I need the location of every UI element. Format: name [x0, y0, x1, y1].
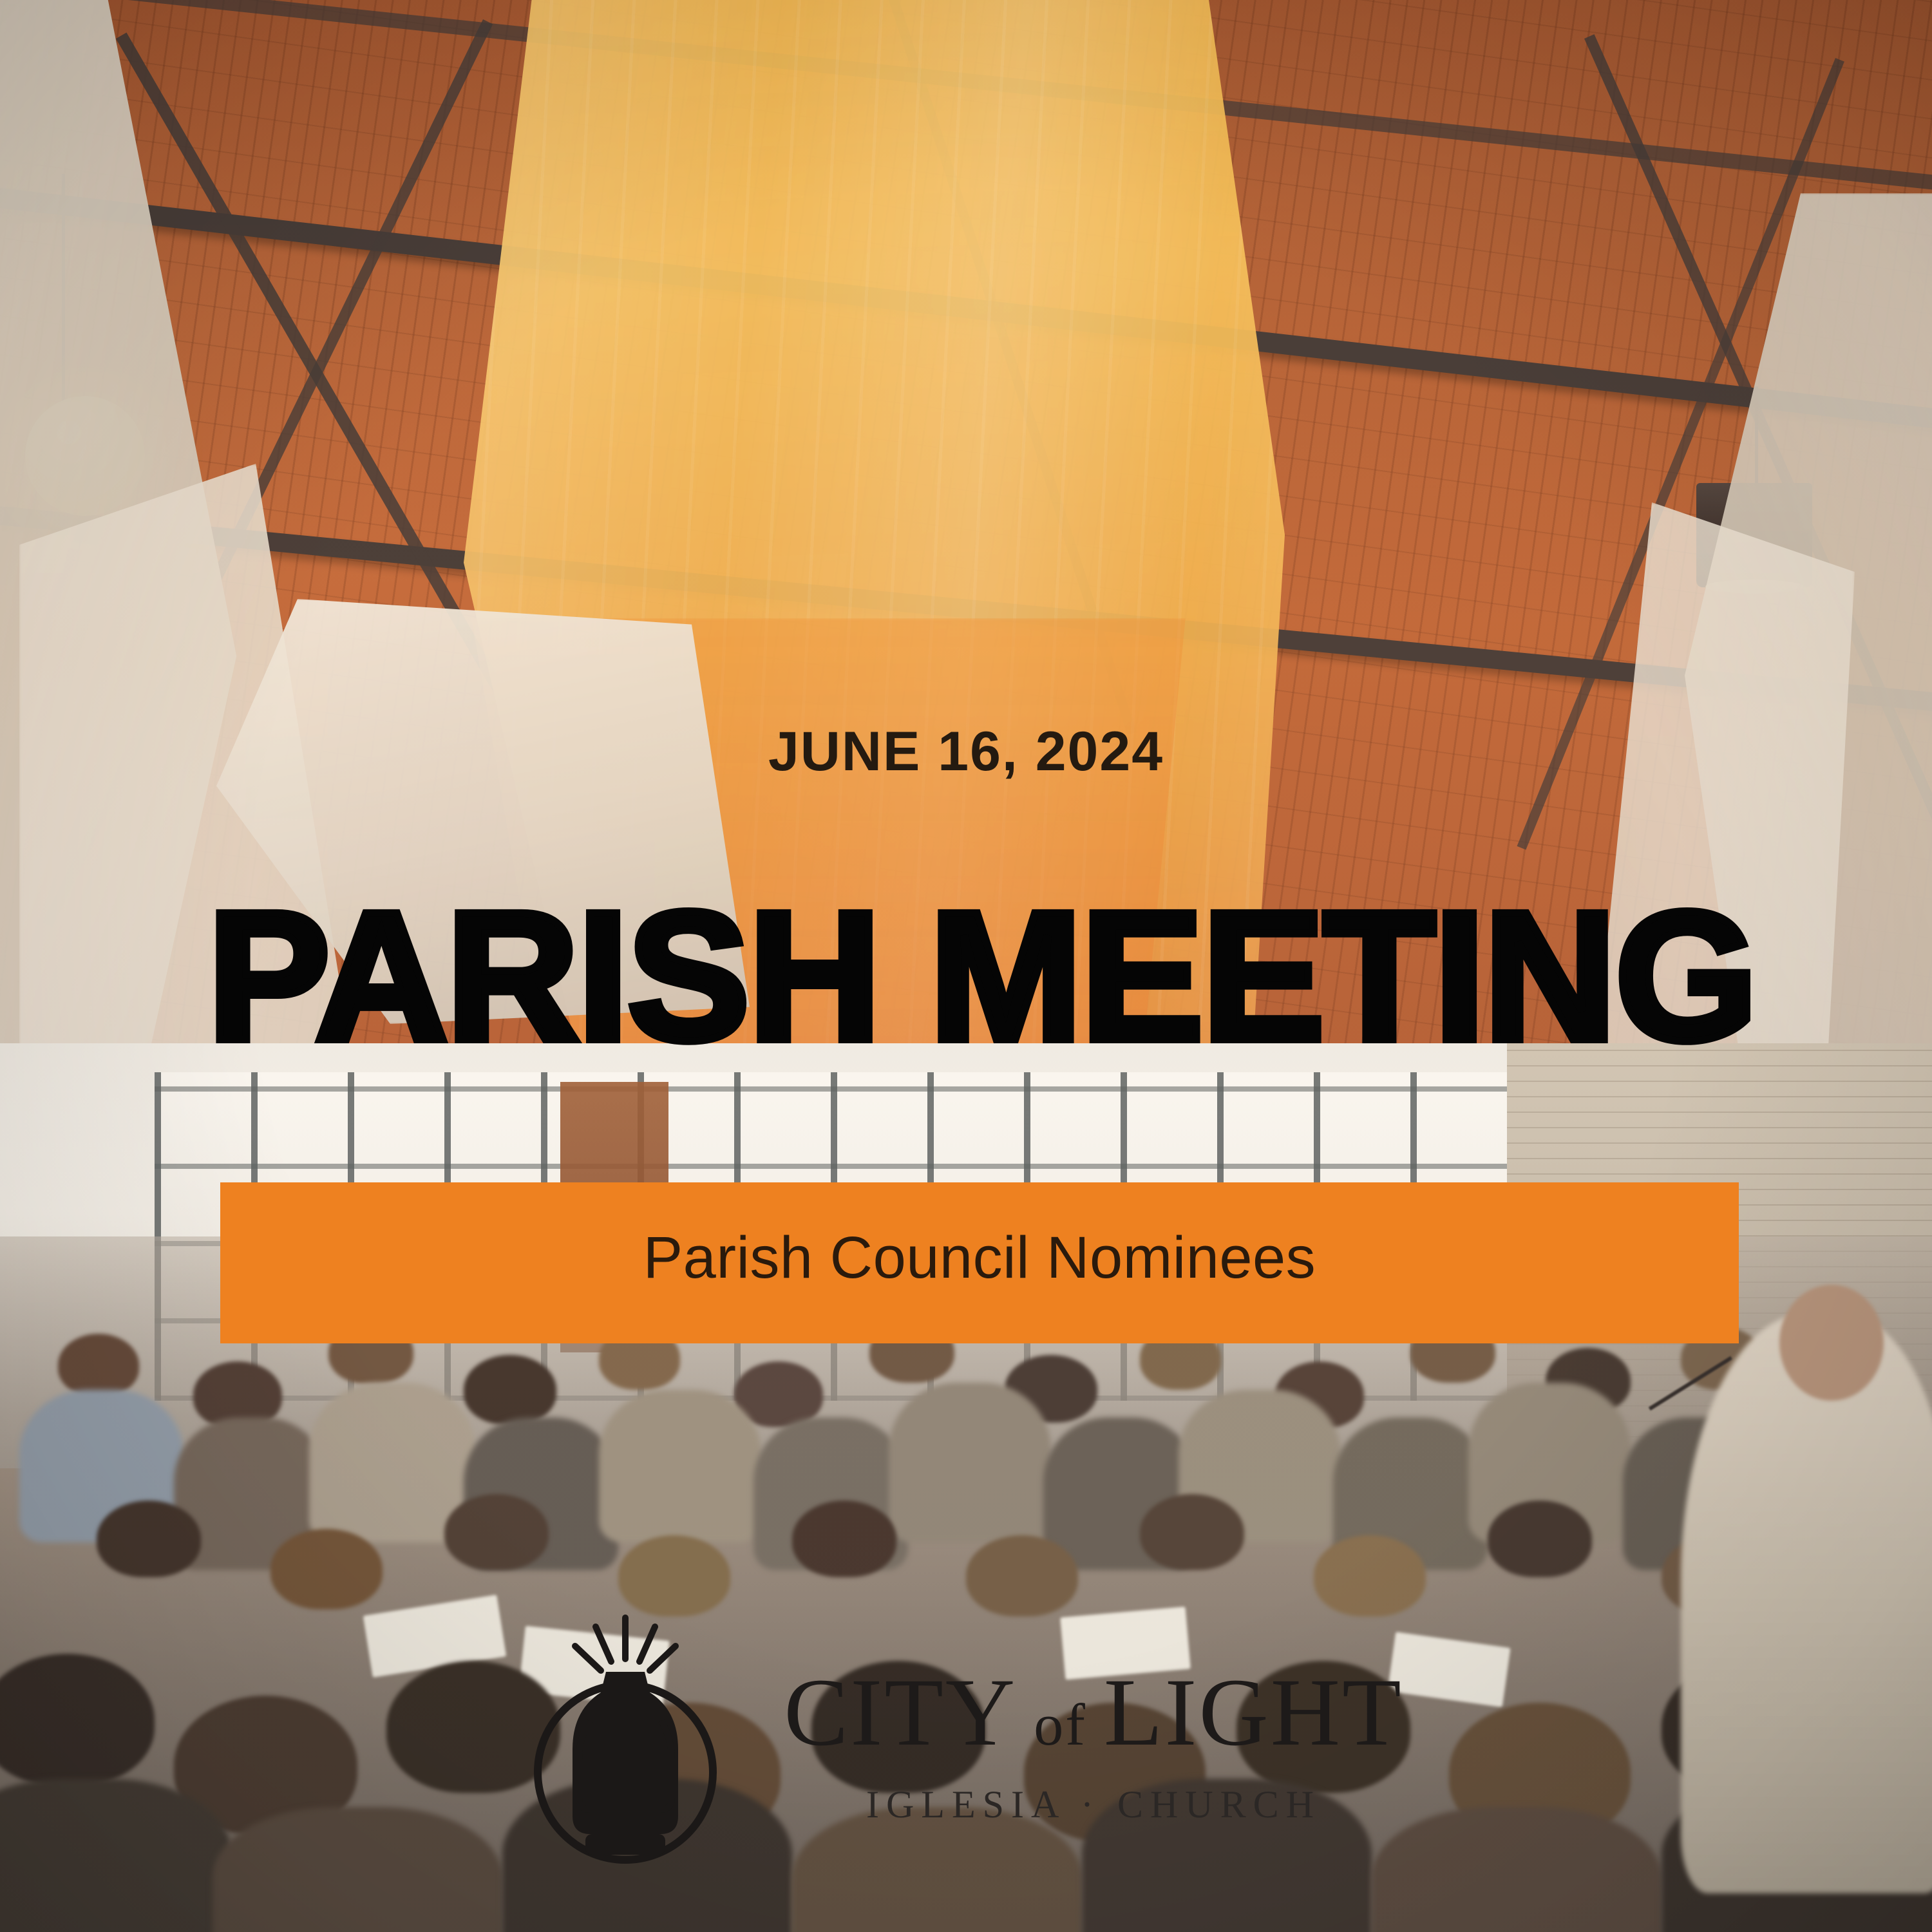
- church-logo: CITY of LIGHT IGLESIA · CHURCH: [0, 1610, 1932, 1880]
- poster-canvas: JUNE 16, 2024 PARISH MEETING Parish Coun…: [0, 0, 1932, 1932]
- lantern-icon: [529, 1610, 722, 1880]
- page-title: PARISH MEETING: [116, 894, 1848, 1059]
- logo-name-city: CITY: [784, 1659, 1017, 1766]
- event-date: JUNE 16, 2024: [0, 720, 1932, 784]
- logo-name-of: of: [1034, 1692, 1087, 1757]
- logo-wordmark: CITY of LIGHT IGLESIA · CHURCH: [784, 1664, 1403, 1827]
- logo-name-line: CITY of LIGHT: [784, 1664, 1403, 1761]
- subtitle-banner-label: Parish Council Nominees: [643, 1224, 1316, 1292]
- logo-name-light: LIGHT: [1104, 1659, 1403, 1766]
- subtitle-banner: Parish Council Nominees: [220, 1182, 1739, 1343]
- logo-subtitle: IGLESIA · CHURCH: [866, 1783, 1321, 1827]
